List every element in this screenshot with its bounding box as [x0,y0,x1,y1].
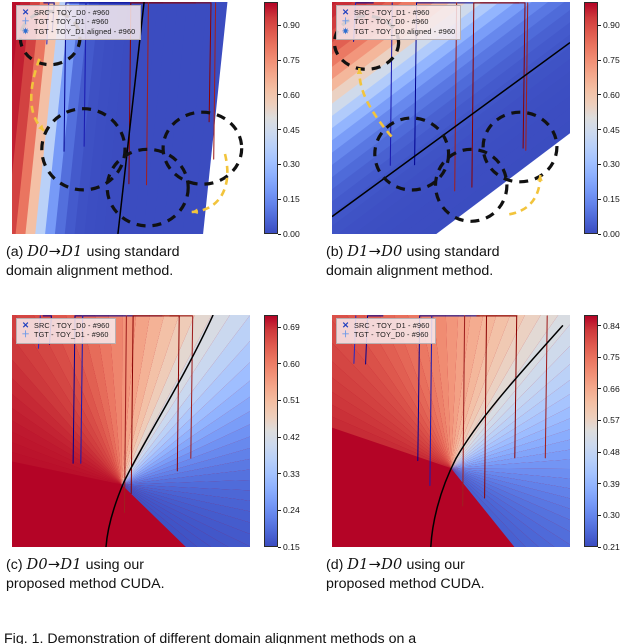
colorbar-gradient [264,315,278,547]
panel-a-plot-row: ✕SRC - TOY_D0 - #960＋TGT - TOY_D1 - #960… [0,0,320,240]
panel-d-caption-label: (d) [326,557,347,573]
caption-rest: using standard [403,244,500,260]
caption-var-from: D1 [347,243,368,260]
colorbar-tick-line [598,483,601,484]
panel-c-caption-line1: (c) D0→D1 using our [6,555,306,575]
panel-d: ✕SRC - TOY_D1 - #960＋TGT - TOY_D0 - #960… [320,313,640,553]
legend-entry-1: ✕SRC - TOY_D0 - #960 [21,8,135,17]
colorbar-tick-label: 0.75 [603,55,620,65]
colorbar-tick-line [598,388,601,389]
colorbar-tick-4: 0.45 [278,125,300,135]
caption-arrow-icon: → [369,243,381,260]
caption-rest: using standard [83,244,180,260]
legend-entry-2: ＋TGT - TOY_D0 - #960 [341,330,430,339]
legend-label: SRC - TOY_D0 - #960 [34,321,110,330]
colorbar-tick-line [598,94,601,95]
legend-marker-icon: ＋ [341,330,350,339]
legend-label: SRC - TOY_D1 - #960 [354,8,430,17]
panel-c-plot-row: ✕SRC - TOY_D0 - #960＋TGT - TOY_D1 - #960… [0,313,320,553]
colorbar-tick-label: 0.48 [603,447,620,457]
colorbar-tick-label: 0.45 [603,125,620,135]
colorbar-tick-7: 0.30 [598,510,620,520]
colorbar-tick-line [598,60,601,61]
colorbar-tick-7: 0.00 [278,229,300,239]
figure-container: ✕SRC - TOY_D0 - #960＋TGT - TOY_D1 - #960… [0,0,640,644]
panel-b-caption: (b) D1→D0 using standarddomain alignment… [326,242,626,281]
colorbar-tick-5: 0.30 [598,159,620,169]
colorbar-ticks: 0.690.600.510.420.330.240.15 [278,315,316,547]
legend-label: SRC - TOY_D0 - #960 [34,8,110,17]
panel-b-legend[interactable]: ✕SRC - TOY_D1 - #960＋TGT - TOY_D0 - #960… [336,5,461,40]
colorbar-tick-label: 0.60 [603,90,620,100]
colorbar-tick-line [598,199,601,200]
colorbar-tick-line [278,547,281,548]
colorbar-tick-label: 0.30 [603,510,620,520]
colorbar-tick-1: 0.90 [278,20,300,30]
colorbar-tick-label: 0.66 [603,384,620,394]
colorbar-tick-3: 0.51 [278,395,300,405]
panel-a-colorbar: 0.900.750.600.450.300.150.00 [258,2,316,234]
legend-entry-2: ＋TGT - TOY_D1 - #960 [21,330,110,339]
colorbar-tick-label: 0.45 [283,125,300,135]
colorbar-tick-1: 0.90 [598,20,620,30]
colorbar-tick-label: 0.15 [283,194,300,204]
colorbar-tick-label: 0.60 [283,359,300,369]
colorbar-tick-line [278,437,281,438]
panel-d-caption-line1: (d) D1→D0 using our [326,555,626,575]
legend-label: TGT - TOY_D0 - #960 [354,17,429,26]
colorbar-tick-4: 0.45 [598,125,620,135]
legend-entry-1: ✕SRC - TOY_D1 - #960 [341,8,455,17]
colorbar-tick-line [278,400,281,401]
colorbar-tick-2: 0.60 [278,359,300,369]
panel-a-caption-line2: domain alignment method. [6,262,306,281]
caption-var-to: D1 [60,556,81,573]
legend-label: TGT - TOY_D1 - #960 [34,17,109,26]
panel-c-caption: (c) D0→D1 using ourproposed method CUDA. [6,555,306,594]
caption-var-from: D0 [27,556,48,573]
panel-d-plot-row: ✕SRC - TOY_D1 - #960＋TGT - TOY_D0 - #960… [320,313,640,553]
panel-b-caption-line2: domain alignment method. [326,262,626,281]
colorbar-tick-line [278,327,281,328]
colorbar-tick-line [278,473,281,474]
colorbar-tick-line [598,357,601,358]
colorbar-tick-8: 0.21 [598,542,620,552]
colorbar-tick-label: 0.00 [603,229,620,239]
colorbar-tick-line [598,25,601,26]
colorbar-tick-line [278,164,281,165]
colorbar-tick-label: 0.90 [603,20,620,30]
panel-b: ✕SRC - TOY_D1 - #960＋TGT - TOY_D0 - #960… [320,0,640,240]
panel-a-caption-line1: (a) D0→D1 using standard [6,242,306,262]
panel-c: ✕SRC - TOY_D0 - #960＋TGT - TOY_D1 - #960… [0,313,320,553]
colorbar-tick-5: 0.48 [598,447,620,457]
caption-var-from: D0 [27,243,48,260]
colorbar-tick-6: 0.24 [278,505,300,515]
colorbar-tick-label: 0.00 [283,229,300,239]
panel-a-caption-label: (a) [6,244,27,260]
colorbar-tick-line [598,452,601,453]
colorbar-gradient [584,2,598,234]
panel-c-plot-area: ✕SRC - TOY_D0 - #960＋TGT - TOY_D1 - #960 [12,315,250,547]
panel-d-caption-line2: proposed method CUDA. [326,575,626,594]
panel-d-heatmap [332,315,570,547]
colorbar-gradient [584,315,598,547]
legend-label: TGT - TOY_D1 aligned - #960 [34,27,135,36]
caption-var-to: D1 [61,243,82,260]
caption-var-to: D0 [381,556,402,573]
colorbar-tick-6: 0.15 [598,194,620,204]
colorbar-tick-label: 0.75 [283,55,300,65]
colorbar-tick-3: 0.60 [278,90,300,100]
legend-label: TGT - TOY_D0 - #960 [354,330,429,339]
caption-arrow-icon: → [49,243,61,260]
panel-d-caption: (d) D1→D0 using ourproposed method CUDA. [326,555,626,594]
colorbar-tick-label: 0.90 [283,20,300,30]
panel-a-caption: (a) D0→D1 using standarddomain alignment… [6,242,306,281]
colorbar-ticks: 0.900.750.600.450.300.150.00 [598,2,636,234]
panel-c-heatmap [12,315,250,547]
legend-marker-icon: ✷ [21,27,30,36]
panel-d-legend[interactable]: ✕SRC - TOY_D1 - #960＋TGT - TOY_D0 - #960 [336,318,436,344]
colorbar-tick-7: 0.15 [278,542,300,552]
colorbar-tick-label: 0.33 [283,469,300,479]
colorbar-tick-label: 0.21 [603,542,620,552]
colorbar-tick-line [278,60,281,61]
panel-b-plot-area: ✕SRC - TOY_D1 - #960＋TGT - TOY_D0 - #960… [332,2,570,234]
panel-a-plot-area: ✕SRC - TOY_D0 - #960＋TGT - TOY_D1 - #960… [12,2,250,234]
legend-label: TGT - TOY_D1 - #960 [34,330,109,339]
legend-entry-2: ＋TGT - TOY_D1 - #960 [21,17,135,26]
panel-c-caption-label: (c) [6,557,27,573]
colorbar-tick-3: 0.60 [598,90,620,100]
legend-entry-3: ✷TGT - TOY_D1 aligned - #960 [21,27,135,36]
colorbar-tick-1: 0.84 [598,321,620,331]
panel-b-caption-label: (b) [326,244,347,260]
panel-c-colorbar: 0.690.600.510.420.330.240.15 [258,315,316,547]
panel-d-plot[interactable]: ✕SRC - TOY_D1 - #960＋TGT - TOY_D0 - #960 [332,315,570,547]
colorbar-tick-2: 0.75 [598,352,620,362]
colorbar-tick-5: 0.30 [278,159,300,169]
colorbar-gradient [264,2,278,234]
panel-c-legend[interactable]: ✕SRC - TOY_D0 - #960＋TGT - TOY_D1 - #960 [16,318,116,344]
colorbar-tick-2: 0.75 [278,55,300,65]
colorbar-tick-label: 0.30 [283,159,300,169]
caption-arrow-icon: → [48,556,60,573]
caption-arrow-icon: → [369,556,381,573]
panel-a: ✕SRC - TOY_D0 - #960＋TGT - TOY_D1 - #960… [0,0,320,240]
legend-label: SRC - TOY_D1 - #960 [354,321,430,330]
colorbar-tick-label: 0.60 [283,90,300,100]
legend-entry-3: ✷TGT - TOY_D0 aligned - #960 [341,27,455,36]
colorbar-tick-line [278,363,281,364]
colorbar-tick-line [278,94,281,95]
colorbar-tick-line [598,164,601,165]
panel-a-legend[interactable]: ✕SRC - TOY_D0 - #960＋TGT - TOY_D1 - #960… [16,5,141,40]
colorbar-tick-line [598,129,601,130]
colorbar-tick-5: 0.33 [278,469,300,479]
panel-a-plot[interactable]: ✕SRC - TOY_D0 - #960＋TGT - TOY_D1 - #960… [12,2,250,234]
colorbar-tick-line [278,25,281,26]
colorbar-tick-4: 0.57 [598,415,620,425]
colorbar-tick-label: 0.39 [603,479,620,489]
panel-b-colorbar: 0.900.750.600.450.300.150.00 [578,2,636,234]
panel-d-plot-area: ✕SRC - TOY_D1 - #960＋TGT - TOY_D0 - #960 [332,315,570,547]
panel-d-colorbar: 0.840.750.660.570.480.390.300.21 [578,315,636,547]
colorbar-tick-line [278,510,281,511]
colorbar-tick-label: 0.84 [603,321,620,331]
colorbar-tick-label: 0.69 [283,322,300,332]
colorbar-tick-line [278,199,281,200]
colorbar-tick-label: 0.42 [283,432,300,442]
legend-entry-2: ＋TGT - TOY_D0 - #960 [341,17,455,26]
panel-b-caption-line1: (b) D1→D0 using standard [326,242,626,262]
colorbar-tick-line [598,325,601,326]
panel-b-plot[interactable]: ✕SRC - TOY_D1 - #960＋TGT - TOY_D0 - #960… [332,2,570,234]
colorbar-tick-line [598,515,601,516]
colorbar-tick-line [598,234,601,235]
colorbar-tick-7: 0.00 [598,229,620,239]
colorbar-tick-label: 0.30 [603,159,620,169]
panel-b-plot-row: ✕SRC - TOY_D1 - #960＋TGT - TOY_D0 - #960… [320,0,640,240]
caption-var-to: D0 [381,243,402,260]
colorbar-tick-label: 0.57 [603,415,620,425]
figure-caption: Fig. 1. Demonstration of different domai… [4,630,640,644]
colorbar-tick-6: 0.15 [278,194,300,204]
panel-c-caption-line2: proposed method CUDA. [6,575,306,594]
colorbar-tick-line [598,420,601,421]
colorbar-tick-4: 0.42 [278,432,300,442]
legend-marker-icon: ＋ [21,330,30,339]
colorbar-tick-line [278,234,281,235]
colorbar-tick-3: 0.66 [598,384,620,394]
colorbar-tick-2: 0.75 [598,55,620,65]
legend-marker-icon: ✷ [341,27,350,36]
colorbar-ticks: 0.840.750.660.570.480.390.300.21 [598,315,636,547]
legend-label: TGT - TOY_D0 aligned - #960 [354,27,455,36]
colorbar-tick-line [598,547,601,548]
colorbar-tick-label: 0.51 [283,395,300,405]
colorbar-tick-label: 0.24 [283,505,300,515]
colorbar-tick-6: 0.39 [598,479,620,489]
panel-c-plot[interactable]: ✕SRC - TOY_D0 - #960＋TGT - TOY_D1 - #960 [12,315,250,547]
legend-entry-1: ✕SRC - TOY_D1 - #960 [341,321,430,330]
colorbar-tick-line [278,129,281,130]
caption-rest: using our [82,557,144,573]
colorbar-tick-label: 0.15 [283,542,300,552]
colorbar-tick-1: 0.69 [278,322,300,332]
colorbar-tick-label: 0.75 [603,352,620,362]
legend-entry-1: ✕SRC - TOY_D0 - #960 [21,321,110,330]
caption-var-from: D1 [347,556,368,573]
colorbar-tick-label: 0.15 [603,194,620,204]
colorbar-ticks: 0.900.750.600.450.300.150.00 [278,2,316,234]
caption-rest: using our [403,557,465,573]
